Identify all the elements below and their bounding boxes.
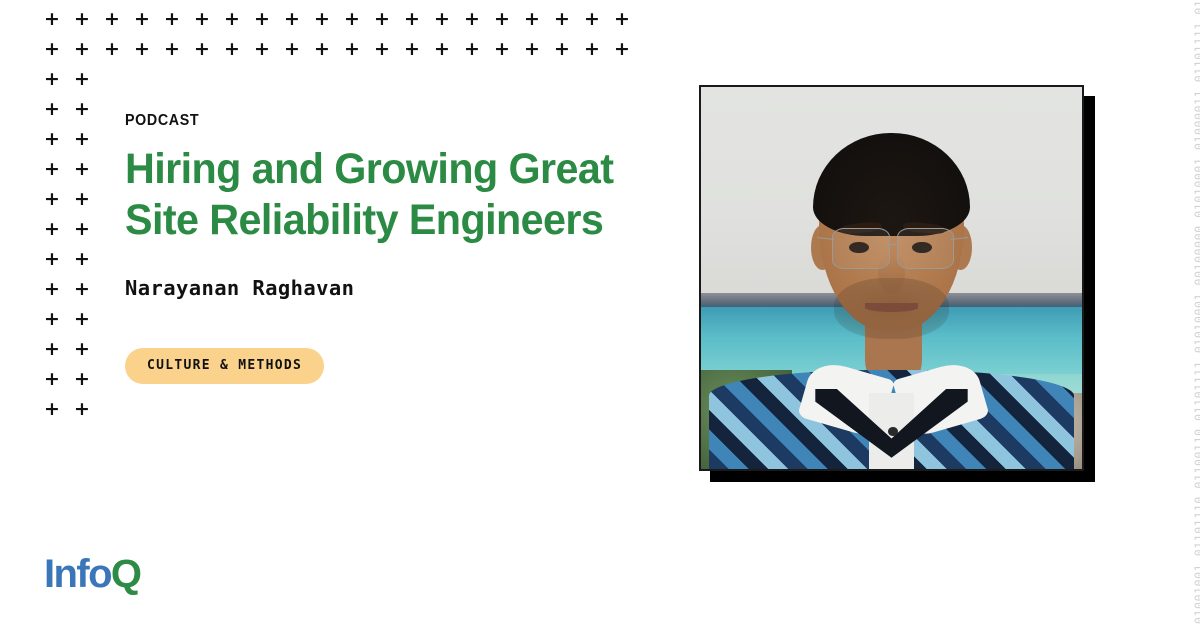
plus-icon: + [194, 42, 209, 57]
portrait-frame [699, 85, 1084, 471]
plus-icon: + [44, 402, 59, 417]
plus-icon: + [104, 42, 119, 57]
plus-icon: + [44, 222, 59, 237]
portrait-photo [701, 87, 1082, 469]
plus-icon: + [224, 42, 239, 57]
plus-icon: + [104, 12, 119, 27]
plus-icon: + [44, 162, 59, 177]
plus-icon: + [434, 42, 449, 57]
page-title-line-2: Site Reliability Engineers [125, 195, 648, 246]
plus-icon: + [44, 312, 59, 327]
logo-text-q: Q [111, 552, 141, 596]
logo-text-info: Info [44, 552, 111, 596]
plus-icon: + [224, 12, 239, 27]
plus-icon: + [554, 12, 569, 27]
plus-icon: + [44, 372, 59, 387]
photo-glasses-bridge [887, 244, 898, 245]
plus-icon: + [374, 42, 389, 57]
plus-icon: + [404, 42, 419, 57]
plus-icon: + [44, 192, 59, 207]
plus-icon: + [74, 72, 89, 87]
plus-icon: + [74, 282, 89, 297]
plus-icon: + [524, 42, 539, 57]
plus-icon: + [74, 402, 89, 417]
plus-icon: + [314, 12, 329, 27]
plus-icon: + [614, 12, 629, 27]
plus-icon: + [44, 12, 59, 27]
infoq-logo[interactable]: InfoQ [44, 552, 140, 597]
plus-icon: + [434, 12, 449, 27]
plus-icon: + [254, 42, 269, 57]
plus-icon: + [74, 102, 89, 117]
page-title-line-1: Hiring and Growing Great [125, 144, 648, 195]
plus-icon: + [344, 42, 359, 57]
plus-icon: + [74, 252, 89, 267]
plus-icon: + [284, 12, 299, 27]
plus-icon: + [44, 132, 59, 147]
plus-icon: + [74, 372, 89, 387]
author-name: Narayanan Raghavan [125, 276, 670, 300]
plus-icon: + [584, 42, 599, 57]
plus-icon: + [464, 42, 479, 57]
plus-icon: + [164, 42, 179, 57]
tag-culture-and-methods[interactable]: CULTURE & METHODS [125, 348, 324, 384]
plus-icon: + [194, 12, 209, 27]
plus-icon: + [494, 42, 509, 57]
plus-icon: + [44, 102, 59, 117]
binary-strip-text: 01001001 01101110 01100110 01101111 0101… [1192, 0, 1200, 624]
plus-icon: + [134, 12, 149, 27]
plus-icon: + [134, 42, 149, 57]
plus-icon: + [284, 42, 299, 57]
photo-glasses-lens-right [897, 228, 954, 268]
plus-icon: + [44, 342, 59, 357]
portrait [699, 85, 1084, 471]
photo-mouth [865, 303, 918, 312]
plus-icon: + [554, 42, 569, 57]
plus-icon: + [74, 132, 89, 147]
plus-icon: + [404, 12, 419, 27]
plus-icon: + [74, 42, 89, 57]
plus-icon: + [44, 252, 59, 267]
plus-icon: + [374, 12, 389, 27]
tag-list: CULTURE & METHODS [125, 348, 670, 384]
plus-icon: + [164, 12, 179, 27]
photo-shirt-button [888, 427, 897, 436]
plus-icon: + [74, 192, 89, 207]
page-title: Hiring and Growing Great Site Reliabilit… [125, 144, 648, 246]
plus-icon: + [494, 12, 509, 27]
plus-icon: + [44, 282, 59, 297]
plus-icon: + [524, 12, 539, 27]
plus-icon: + [584, 12, 599, 27]
plus-icon: + [74, 162, 89, 177]
plus-icon: + [44, 42, 59, 57]
photo-glasses-lens-left [832, 228, 889, 268]
plus-icon: + [314, 42, 329, 57]
plus-icon: + [74, 12, 89, 27]
plus-icon: + [464, 12, 479, 27]
plus-icon: + [344, 12, 359, 27]
content-block: PODCAST Hiring and Growing Great Site Re… [125, 112, 670, 384]
plus-icon: + [254, 12, 269, 27]
plus-icon: + [74, 312, 89, 327]
content-type-label: PODCAST [125, 112, 626, 130]
plus-icon: + [614, 42, 629, 57]
plus-icon: + [74, 222, 89, 237]
plus-icon: + [74, 342, 89, 357]
binary-strip: 01001001 01101110 01100110 01101111 0101… [1171, 0, 1200, 630]
plus-icon: + [44, 72, 59, 87]
social-share-card: ++++++++++++++++++++++++++++++++++++++++… [0, 0, 1200, 630]
